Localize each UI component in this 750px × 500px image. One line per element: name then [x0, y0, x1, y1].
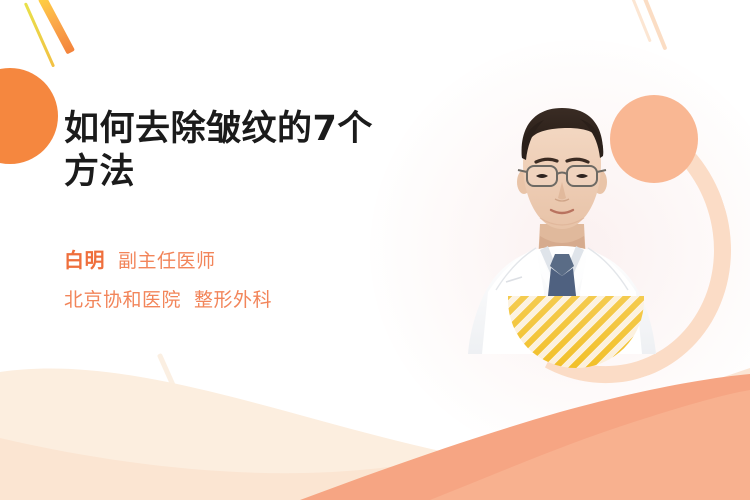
byline-name-row: 白明 副主任医师	[64, 245, 444, 276]
cover-text-block: 如何去除皱纹的7个 方法 白明 副主任医师 北京协和医院 整形外科	[64, 108, 444, 312]
doctor-name: 白明	[64, 245, 105, 275]
diagonal-stripe-icon-tr-a	[641, 0, 668, 50]
page-title: 如何去除皱纹的7个 方法	[64, 108, 444, 193]
doctor-job-title: 副主任医师	[118, 247, 216, 276]
article-cover-canvas: 如何去除皱纹的7个 方法 白明 副主任医师 北京协和医院 整形外科	[0, 0, 750, 500]
diagonal-stripe-icon-tl-thin	[24, 3, 55, 68]
byline-affiliation-row: 北京协和医院 整形外科	[64, 285, 444, 312]
orange-circle-decor	[0, 68, 58, 164]
wave-decor	[0, 320, 750, 500]
department-name: 整形外科	[194, 285, 272, 312]
hospital-name: 北京协和医院	[64, 285, 181, 312]
diagonal-stripe-icon-tl-thick	[38, 0, 75, 54]
byline: 白明 副主任医师 北京协和医院 整形外科	[64, 245, 444, 312]
diagonal-stripe-icon-tr-b	[627, 0, 651, 42]
